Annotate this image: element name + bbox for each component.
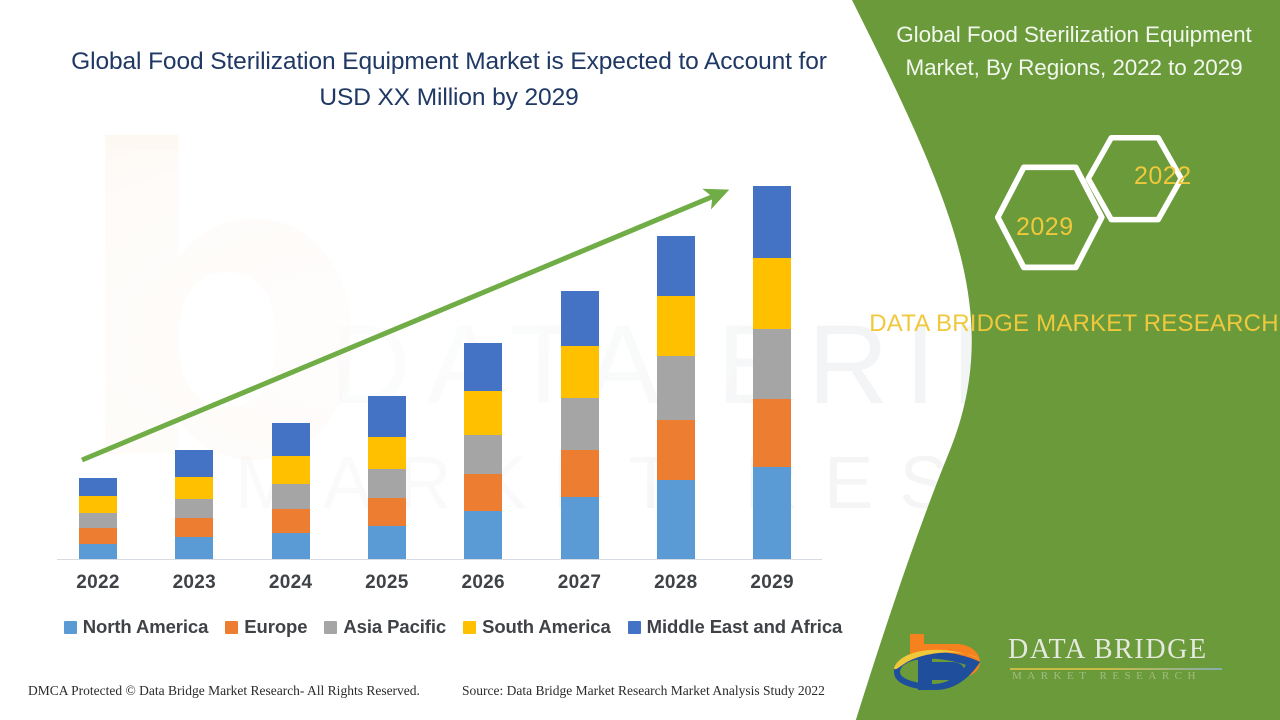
bar-segment: [175, 537, 213, 559]
bar-segment: [464, 391, 502, 435]
bar-column-2024: [272, 0, 310, 559]
bar-segment: [753, 329, 791, 399]
logo-mark-icon: [888, 628, 998, 694]
bar-column-2025: [368, 0, 406, 559]
bar-segment: [561, 497, 599, 559]
bar-segment: [175, 499, 213, 518]
stacked-bar-chart: 20222023202420252026202720282029: [0, 0, 860, 620]
x-axis-label-2023: 2023: [156, 572, 232, 594]
data-bridge-logo: DATA BRIDGE MARKET RESEARCH: [888, 628, 1248, 698]
infographic-canvas: b DATA BRIDGE MARKET RESEARCH Global Foo…: [0, 0, 1280, 720]
hex-badge-year-2029: 2029: [1016, 213, 1074, 242]
bar-segment: [657, 356, 695, 420]
legend-item-europe[interactable]: Europe: [225, 616, 307, 638]
chart-x-axis-labels: 20222023202420252026202720282029: [0, 572, 860, 598]
bar-segment: [79, 478, 117, 496]
bar-segment: [657, 480, 695, 559]
bar-segment: [272, 509, 310, 533]
chart-x-axis-line: [57, 559, 822, 560]
bar-segment: [657, 296, 695, 356]
legend-swatch-icon: [463, 621, 476, 634]
bar-segment: [464, 511, 502, 559]
bar-segment: [79, 496, 117, 513]
bar-segment: [657, 420, 695, 480]
hex-badge-year-2022: 2022: [1134, 162, 1192, 191]
bar-segment: [561, 450, 599, 497]
legend-item-north-america[interactable]: North America: [64, 616, 209, 638]
legend-label: Asia Pacific: [343, 616, 446, 638]
green-panel-content: Global Food Sterilization Equipment Mark…: [856, 0, 1280, 720]
x-axis-label-2024: 2024: [253, 572, 329, 594]
bar-segment: [561, 398, 599, 450]
bar-column-2028: [657, 0, 695, 559]
logo-tagline: MARKET RESEARCH: [1012, 670, 1201, 682]
legend-swatch-icon: [324, 621, 337, 634]
legend-label: Middle East and Africa: [647, 616, 843, 638]
source-notice: Source: Data Bridge Market Research Mark…: [462, 683, 825, 699]
bar-segment: [753, 186, 791, 258]
legend-label: Europe: [244, 616, 307, 638]
bar-segment: [464, 435, 502, 474]
logo-wordmark: DATA BRIDGE: [1008, 634, 1208, 666]
bar-segment: [657, 236, 695, 296]
bar-segment: [272, 456, 310, 484]
x-axis-label-2028: 2028: [638, 572, 714, 594]
bar-segment: [753, 467, 791, 559]
bar-segment: [175, 477, 213, 499]
chart-legend: North AmericaEuropeAsia PacificSouth Ame…: [58, 616, 848, 638]
hexagon-outlines-icon: [856, 120, 1280, 300]
x-axis-label-2026: 2026: [445, 572, 521, 594]
bar-column-2029: [753, 0, 791, 559]
x-axis-label-2022: 2022: [60, 572, 136, 594]
bar-segment: [561, 346, 599, 398]
bar-segment: [368, 396, 406, 437]
chart-plot-area: [0, 0, 860, 559]
bar-segment: [368, 469, 406, 498]
x-axis-label-2029: 2029: [734, 572, 810, 594]
bar-segment: [368, 437, 406, 469]
legend-item-middle-east-and-africa[interactable]: Middle East and Africa: [628, 616, 843, 638]
legend-label: North America: [83, 616, 209, 638]
bar-segment: [464, 343, 502, 391]
bar-segment: [272, 533, 310, 559]
hexagon-badges: 2022 2029: [856, 120, 1280, 300]
bar-segment: [464, 474, 502, 511]
copyright-notice: DMCA Protected © Data Bridge Market Rese…: [28, 683, 420, 699]
legend-swatch-icon: [64, 621, 77, 634]
bar-column-2027: [561, 0, 599, 559]
panel-title: Global Food Sterilization Equipment Mark…: [868, 18, 1280, 84]
bar-segment: [79, 513, 117, 528]
legend-swatch-icon: [225, 621, 238, 634]
bar-segment: [753, 399, 791, 467]
legend-label: South America: [482, 616, 611, 638]
bar-column-2022: [79, 0, 117, 559]
bar-segment: [175, 518, 213, 537]
brand-name: DATA BRIDGE MARKET RESEARCH: [868, 307, 1280, 341]
bar-segment: [272, 423, 310, 456]
x-axis-label-2027: 2027: [542, 572, 618, 594]
legend-item-asia-pacific[interactable]: Asia Pacific: [324, 616, 446, 638]
bar-segment: [368, 526, 406, 559]
bar-segment: [368, 498, 406, 526]
bar-segment: [272, 484, 310, 509]
bar-column-2023: [175, 0, 213, 559]
bar-column-2026: [464, 0, 502, 559]
legend-swatch-icon: [628, 621, 641, 634]
bar-segment: [561, 291, 599, 346]
legend-item-south-america[interactable]: South America: [463, 616, 611, 638]
bar-segment: [175, 450, 213, 477]
bar-segment: [79, 544, 117, 559]
bar-segment: [79, 528, 117, 544]
x-axis-label-2025: 2025: [349, 572, 425, 594]
bar-segment: [753, 258, 791, 329]
